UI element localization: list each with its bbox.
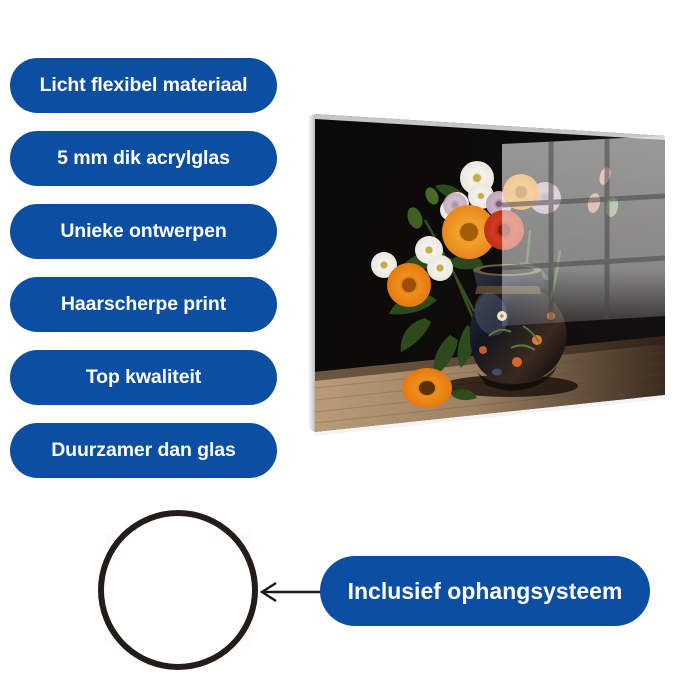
- feature-badge-list: Licht flexibel materiaal 5 mm dik acrylg…: [10, 58, 277, 496]
- window-reflection: [495, 130, 675, 330]
- hanging-kit-circle-outline: [98, 510, 258, 670]
- feature-badge-label: 5 mm dik acrylglas: [57, 149, 230, 169]
- feature-badge-label: Top kwaliteit: [86, 368, 201, 388]
- acryl-edge-left: [308, 114, 315, 432]
- feature-badge-unieke-ontwerpen[interactable]: Unieke ontwerpen: [10, 204, 277, 259]
- feature-badge-label: Licht flexibel materiaal: [40, 76, 248, 96]
- feature-badge-label: Haarscherpe print: [61, 295, 226, 315]
- feature-badge-haarscherpe-print[interactable]: Haarscherpe print: [10, 277, 277, 332]
- hanging-system-callout-label: Inclusief ophangsysteem: [348, 580, 623, 603]
- feature-badge-duurzamer-dan-glas[interactable]: Duurzamer dan glas: [10, 423, 277, 478]
- feature-badge-label: Unieke ontwerpen: [60, 222, 226, 242]
- hanging-system-callout-badge[interactable]: Inclusief ophangsysteem: [320, 556, 650, 626]
- feature-badge-licht-flexibel-materiaal[interactable]: Licht flexibel materiaal: [10, 58, 277, 113]
- feature-badge-5-mm-dik-acrylglas[interactable]: 5 mm dik acrylglas: [10, 131, 277, 186]
- acrylglas-print-image: [305, 100, 680, 450]
- feature-badge-label: Duurzamer dan glas: [51, 441, 236, 461]
- acrylglas-print-preview: [305, 100, 680, 450]
- feature-badge-top-kwaliteit[interactable]: Top kwaliteit: [10, 350, 277, 405]
